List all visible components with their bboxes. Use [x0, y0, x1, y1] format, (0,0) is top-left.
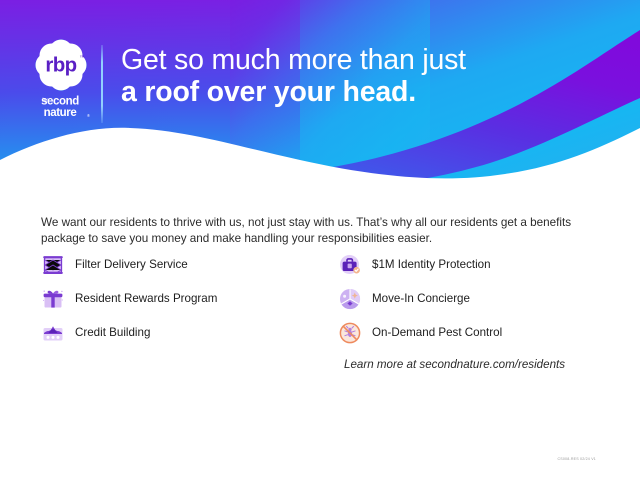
- learn-more-text: Learn more at secondnature.com/residents: [344, 357, 624, 372]
- benefit-credit-building: Credit Building: [41, 316, 321, 350]
- air-filter-icon: [41, 253, 65, 277]
- gift-box-icon: [41, 287, 65, 311]
- svg-text:nature: nature: [44, 107, 77, 119]
- hero-banner: rbp ™ by second nature ® Get so much mor…: [0, 0, 640, 186]
- benefit-label: Credit Building: [75, 326, 150, 340]
- benefit-label: Resident Rewards Program: [75, 292, 217, 306]
- no-pest-icon: [338, 321, 362, 345]
- benefit-label: Move-In Concierge: [372, 292, 470, 306]
- intro-paragraph: We want our residents to thrive with us,…: [41, 215, 589, 248]
- svg-text:rbp: rbp: [45, 54, 76, 77]
- svg-text:®: ®: [87, 113, 90, 118]
- briefcase-lock-icon: [338, 253, 362, 277]
- concierge-circle-icon: [338, 287, 362, 311]
- svg-text:second: second: [41, 96, 79, 108]
- document-code: CS008-RES 02/24 V1: [470, 456, 596, 462]
- benefit-move-in-concierge: Move-In Concierge: [338, 282, 618, 316]
- logo-headline-divider: [101, 45, 103, 123]
- benefit-on-demand-pest-control: On-Demand Pest Control: [338, 316, 618, 350]
- svg-text:™: ™: [80, 55, 85, 61]
- credit-chart-icon: [41, 321, 65, 345]
- benefit-label: Filter Delivery Service: [75, 258, 188, 272]
- headline-line-2: a roof over your head.: [121, 76, 621, 109]
- brand-logo: rbp ™ by second nature ®: [24, 36, 96, 122]
- benefit-label: $1M Identity Protection: [372, 258, 491, 272]
- benefit-resident-rewards-program: Resident Rewards Program: [41, 282, 321, 316]
- hero-headline: Get so much more than just a roof over y…: [121, 45, 621, 109]
- headline-line-1: Get so much more than just: [121, 45, 621, 76]
- benefit-label: On-Demand Pest Control: [372, 326, 502, 340]
- benefit-filter-delivery-service: Filter Delivery Service: [41, 248, 321, 282]
- rbp-logo-mark: rbp ™: [32, 36, 90, 94]
- benefit-identity-protection: $1M Identity Protection: [338, 248, 618, 282]
- benefits-column-left: Filter Delivery Service: [41, 248, 321, 350]
- benefits-column-right: $1M Identity Protection: [338, 248, 618, 350]
- marketing-flyer: rbp ™ by second nature ® Get so much mor…: [0, 0, 640, 480]
- second-nature-wordmark: by second nature ®: [24, 92, 96, 122]
